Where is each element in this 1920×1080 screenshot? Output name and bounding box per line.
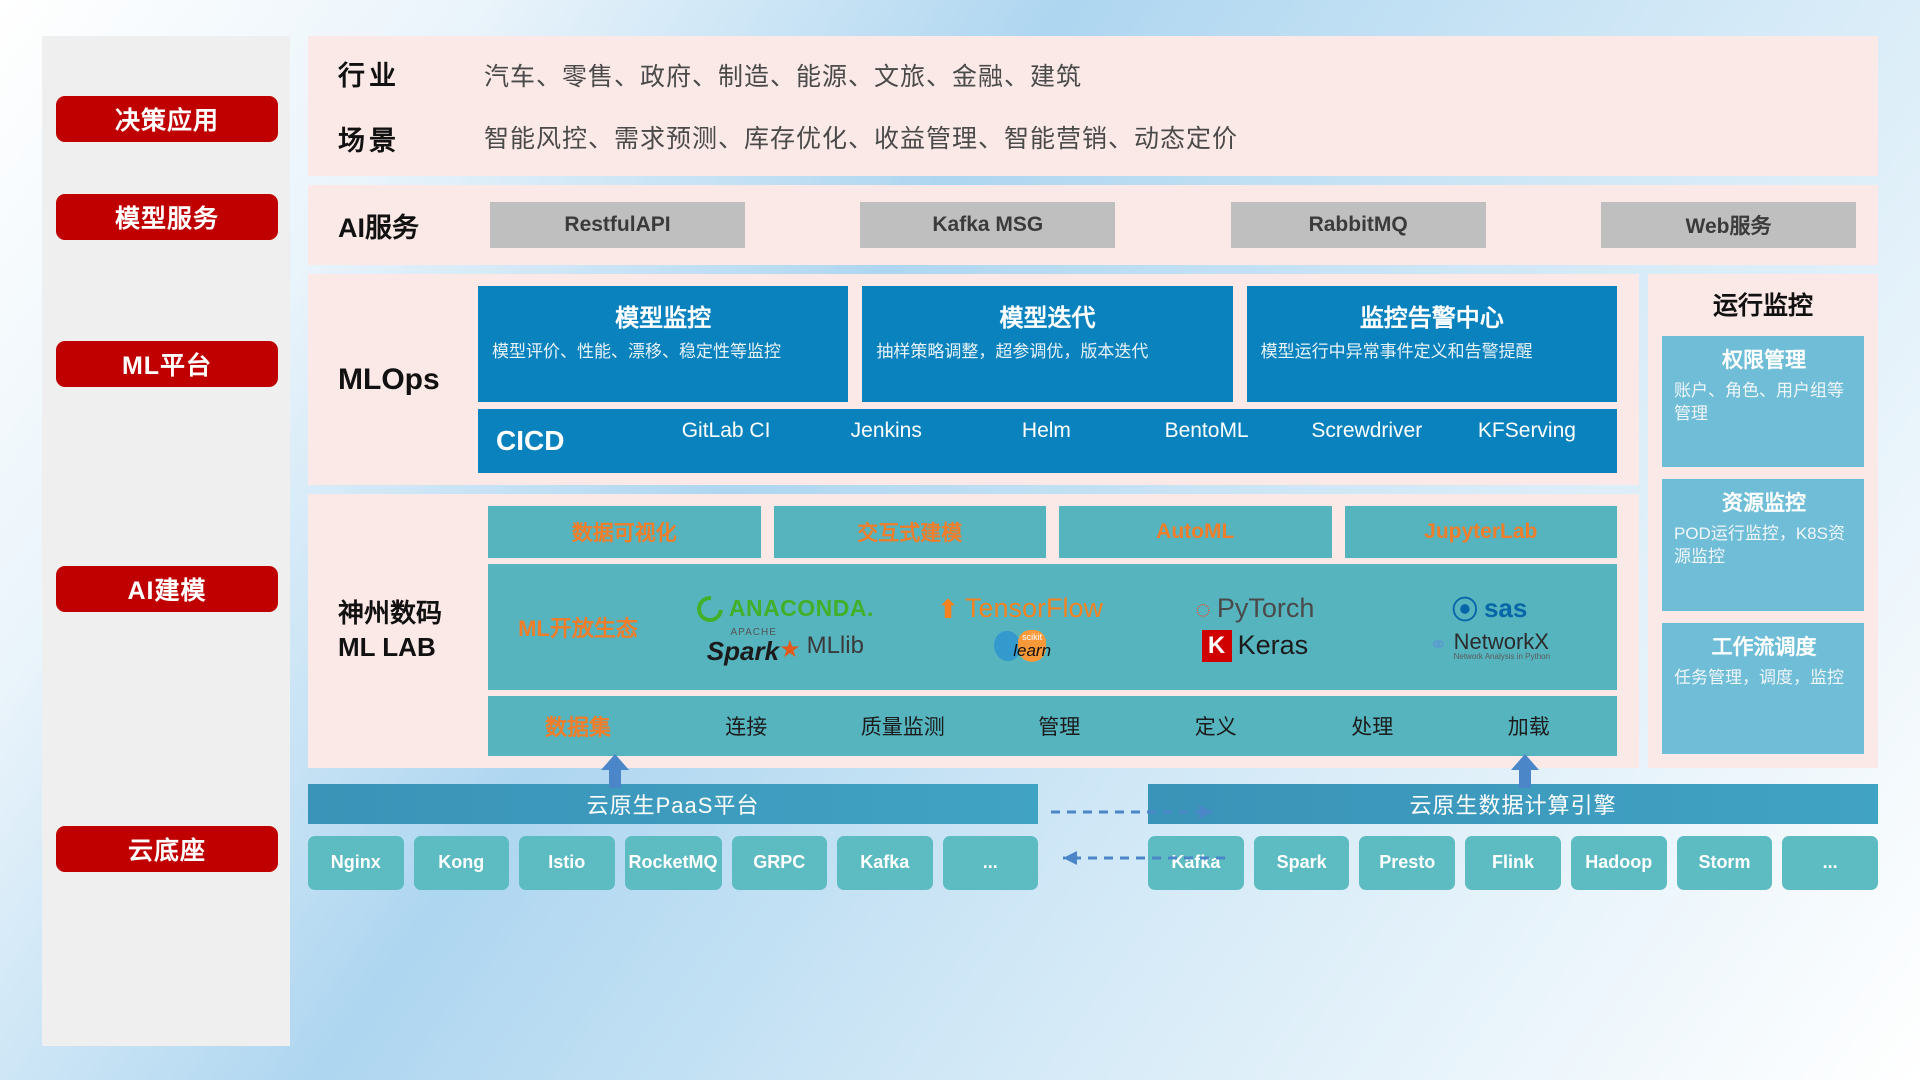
ai-service-band: AI服务 RestfulAPI Kafka MSG RabbitMQ Web服务 (308, 185, 1878, 265)
anaconda-logo-text: ANACONDA. (729, 595, 874, 622)
scikit-orange-blob-icon: scikit learn (1018, 630, 1046, 662)
dataset-item-load[interactable]: 加载 (1451, 711, 1608, 741)
scikit-learn-logo: scikit learn (994, 630, 1046, 662)
mlops-card-alert-center[interactable]: 监控告警中心 模型运行中异常事件定义和告警提醒 (1247, 286, 1617, 402)
cloud-chip-flink[interactable]: Flink (1465, 836, 1561, 890)
cloud-chip-rocketmq[interactable]: RocketMQ (625, 836, 722, 890)
mlops-label: MLOps (338, 363, 478, 397)
ml-lab-tab-list: 数据可视化 交互式建模 AutoML JupyterLab (488, 506, 1617, 558)
monitoring-card-title: 权限管理 (1674, 344, 1854, 374)
anaconda-ring-icon (692, 590, 729, 627)
keras-logo-text: Keras (1238, 630, 1309, 661)
mlops-band: MLOps 模型监控 模型评价、性能、漂移、稳定性等监控 模型迭代 抽样策略调整… (308, 274, 1639, 485)
cloud-compute-chip-list: Kafka Spark Presto Flink Hadoop Storm ..… (1148, 836, 1878, 890)
mlops-card-title: 监控告警中心 (1261, 298, 1603, 333)
tensorflow-logo-text: TensorFlow (965, 593, 1103, 624)
dataset-item-connect[interactable]: 连接 (668, 711, 825, 741)
platform-left-column: MLOps 模型监控 模型评价、性能、漂移、稳定性等监控 模型迭代 抽样策略调整… (308, 274, 1639, 768)
runtime-monitoring-rail: 运行监控 权限管理 账户、角色、用户组等管理 资源监控 POD运行监控，K8S资… (1648, 274, 1878, 768)
spark-mllib-logo: APACHE Spark ★ MLlib (707, 628, 864, 664)
scenario-label: 场景 (338, 119, 456, 158)
stage-rail: 决策应用 模型服务 ML平台 AI建模 云底座 (42, 36, 290, 1046)
cloud-chip-more-left[interactable]: ... (943, 836, 1039, 890)
mlops-card-title: 模型监控 (492, 298, 834, 333)
bidirectional-link-arrows (1043, 790, 1233, 882)
networkx-subtitle-text: Network Analysis in Python (1454, 653, 1551, 661)
monitoring-card-resource[interactable]: 资源监控 POD运行监控，K8S资源监控 (1662, 479, 1864, 610)
dataset-item-define[interactable]: 定义 (1138, 711, 1295, 741)
stage-chip-model-service[interactable]: 模型服务 (56, 194, 278, 240)
keras-logo: K Keras (1202, 630, 1309, 662)
stage-chip-ai-modeling[interactable]: AI建模 (56, 566, 278, 612)
ml-lab-tab-jupyterlab[interactable]: JupyterLab (1345, 506, 1618, 558)
dataset-item-list: 连接 质量监测 管理 定义 处理 加载 (668, 711, 1607, 741)
cloud-chip-nginx[interactable]: Nginx (308, 836, 404, 890)
mlops-content: 模型监控 模型评价、性能、漂移、稳定性等监控 模型迭代 抽样策略调整，超参调优，… (478, 286, 1617, 473)
cloud-chip-grpc[interactable]: GRPC (732, 836, 828, 890)
industry-value: 汽车、零售、政府、制造、能源、文旅、金融、建筑 (484, 57, 1856, 93)
cloud-compute-column: 云原生数据计算引擎 Kafka Spark Presto Flink Hadoo… (1148, 784, 1878, 890)
monitoring-card-permission[interactable]: 权限管理 账户、角色、用户组等管理 (1662, 336, 1864, 467)
ai-service-chip-list: RestfulAPI Kafka MSG RabbitMQ Web服务 (478, 202, 1856, 248)
ml-lab-label-line2: ML LAB (338, 631, 488, 665)
mllib-logo-text: MLlib (807, 632, 864, 660)
sas-swirl-icon: ⦿ (1452, 590, 1478, 627)
cicd-item-list: GitLab CI Jenkins Helm BentoML Screwdriv… (646, 418, 1607, 464)
cicd-item-jenkins[interactable]: Jenkins (806, 418, 966, 464)
cloud-paas-chip-list: Nginx Kong Istio RocketMQ GRPC Kafka ... (308, 836, 1038, 890)
up-arrow-compute-icon (1508, 754, 1542, 788)
ml-lab-content: 数据可视化 交互式建模 AutoML JupyterLab ML开放生态 ANA… (488, 506, 1617, 756)
cicd-item-screwdriver[interactable]: Screwdriver (1287, 418, 1447, 464)
pytorch-logo: ◌ PyTorch (1195, 593, 1314, 624)
cicd-row: CICD GitLab CI Jenkins Helm BentoML Scre… (478, 409, 1617, 473)
networkx-graph-icon: ⚭ (1429, 632, 1447, 658)
ml-open-ecosystem-row: ML开放生态 ANACONDA. ⬆ TensorFlow (488, 564, 1617, 690)
runtime-monitoring-title: 运行监控 (1662, 286, 1864, 322)
pytorch-flame-icon: ◌ (1195, 596, 1210, 622)
networkx-logo: ⚭ NetworkX Network Analysis in Python (1429, 630, 1550, 661)
ml-lab-band: 神州数码 ML LAB 数据可视化 交互式建模 AutoML JupyterLa… (308, 494, 1639, 768)
monitoring-card-title: 资源监控 (1674, 487, 1854, 517)
ecosystem-logo-grid: ANACONDA. ⬆ TensorFlow ◌ PyTorch (668, 590, 1607, 664)
cicd-title: CICD (496, 425, 646, 457)
dataset-item-process[interactable]: 处理 (1294, 711, 1451, 741)
industry-label: 行业 (338, 54, 456, 93)
ai-service-chip-rabbitmq[interactable]: RabbitMQ (1231, 202, 1486, 248)
ml-lab-tab-interactive-modeling[interactable]: 交互式建模 (774, 506, 1047, 558)
mlops-card-desc: 模型评价、性能、漂移、稳定性等监控 (492, 341, 834, 364)
ml-lab-label: 神州数码 ML LAB (338, 597, 488, 665)
cicd-item-bentoml[interactable]: BentoML (1127, 418, 1287, 464)
platform-area: MLOps 模型监控 模型评价、性能、漂移、稳定性等监控 模型迭代 抽样策略调整… (308, 274, 1878, 768)
monitoring-card-title: 工作流调度 (1674, 631, 1854, 661)
ml-lab-tab-data-visualization[interactable]: 数据可视化 (488, 506, 761, 558)
cloud-chip-spark[interactable]: Spark (1254, 836, 1350, 890)
cicd-item-gitlab-ci[interactable]: GitLab CI (646, 418, 806, 464)
cloud-chip-presto[interactable]: Presto (1359, 836, 1455, 890)
stage-chip-ml-platform[interactable]: ML平台 (56, 341, 278, 387)
ai-service-chip-restfulapi[interactable]: RestfulAPI (490, 202, 745, 248)
ai-service-label: AI服务 (338, 206, 478, 245)
learn-logo-text: learn (1013, 642, 1051, 659)
industry-scenario-labels: 行业 场景 (338, 54, 456, 158)
ai-service-chip-web-service[interactable]: Web服务 (1601, 202, 1856, 248)
cloud-paas-header: 云原生PaaS平台 (308, 784, 1038, 824)
monitoring-card-workflow[interactable]: 工作流调度 任务管理，调度，监控 (1662, 623, 1864, 754)
scenario-value: 智能风控、需求预测、库存优化、收益管理、智能营销、动态定价 (484, 119, 1856, 155)
dataset-item-manage[interactable]: 管理 (981, 711, 1138, 741)
tensorflow-logo: ⬆ TensorFlow (937, 593, 1103, 624)
pytorch-logo-text: PyTorch (1217, 593, 1315, 624)
cloud-paas-column: 云原生PaaS平台 Nginx Kong Istio RocketMQ GRPC… (308, 784, 1038, 890)
ml-open-ecosystem-label: ML开放生态 (488, 611, 668, 643)
networkx-logo-text: NetworkX (1454, 630, 1551, 653)
mlops-card-desc: 模型运行中异常事件定义和告警提醒 (1261, 341, 1603, 364)
keras-k-icon: K (1202, 630, 1232, 662)
anaconda-logo: ANACONDA. (697, 595, 874, 622)
architecture-diagram: 决策应用 模型服务 ML平台 AI建模 云底座 行业 场景 汽车、零售、政府、制… (0, 0, 1920, 1080)
mlops-card-title: 模型迭代 (876, 298, 1218, 333)
spark-logo-text: Spark (707, 638, 779, 664)
cloud-compute-header: 云原生数据计算引擎 (1148, 784, 1878, 824)
ml-lab-label-line1: 神州数码 (338, 597, 488, 631)
up-arrow-paas-icon (598, 754, 632, 788)
cloud-base-area: 云原生PaaS平台 Nginx Kong Istio RocketMQ GRPC… (308, 784, 1878, 912)
dataset-label: 数据集 (488, 710, 668, 742)
cicd-item-kfserving[interactable]: KFServing (1447, 418, 1607, 464)
dataset-item-quality[interactable]: 质量监测 (825, 711, 982, 741)
mlops-card-desc: 抽样策略调整，超参调优，版本迭代 (876, 341, 1218, 364)
sas-logo-text: sas (1484, 593, 1527, 624)
cloud-chip-hadoop[interactable]: Hadoop (1571, 836, 1667, 890)
mlops-card-list: 模型监控 模型评价、性能、漂移、稳定性等监控 模型迭代 抽样策略调整，超参调优，… (478, 286, 1617, 402)
monitoring-card-desc: POD运行监控，K8S资源监控 (1674, 523, 1854, 569)
link-arrows-svg (1043, 790, 1233, 882)
sas-logo: ⦿ sas (1452, 590, 1527, 627)
industry-scenario-band: 行业 场景 汽车、零售、政府、制造、能源、文旅、金融、建筑 智能风控、需求预测、… (308, 36, 1878, 176)
spark-star-icon: ★ (779, 638, 801, 662)
cloud-chip-more-right[interactable]: ... (1782, 836, 1878, 890)
ml-lab-tab-automl[interactable]: AutoML (1059, 506, 1332, 558)
monitoring-card-desc: 任务管理，调度，监控 (1674, 667, 1854, 690)
stage-chip-decision-app[interactable]: 决策应用 (56, 96, 278, 142)
main-column: 行业 场景 汽车、零售、政府、制造、能源、文旅、金融、建筑 智能风控、需求预测、… (308, 36, 1878, 1046)
cicd-item-helm[interactable]: Helm (966, 418, 1126, 464)
cloud-chip-kong[interactable]: Kong (414, 836, 510, 890)
mlops-card-model-monitoring[interactable]: 模型监控 模型评价、性能、漂移、稳定性等监控 (478, 286, 848, 402)
cloud-chip-istio[interactable]: Istio (519, 836, 615, 890)
stage-chip-cloud-base[interactable]: 云底座 (56, 826, 278, 872)
industry-scenario-values: 汽车、零售、政府、制造、能源、文旅、金融、建筑 智能风控、需求预测、库存优化、收… (456, 57, 1856, 155)
cloud-chip-kafka[interactable]: Kafka (837, 836, 933, 890)
mlops-card-model-iteration[interactable]: 模型迭代 抽样策略调整，超参调优，版本迭代 (862, 286, 1232, 402)
ai-service-chip-kafka-msg[interactable]: Kafka MSG (860, 202, 1115, 248)
monitoring-card-desc: 账户、角色、用户组等管理 (1674, 380, 1854, 426)
cloud-chip-storm[interactable]: Storm (1677, 836, 1773, 890)
dataset-row: 数据集 连接 质量监测 管理 定义 处理 加载 (488, 696, 1617, 756)
tensorflow-mark-icon: ⬆ (937, 596, 959, 622)
